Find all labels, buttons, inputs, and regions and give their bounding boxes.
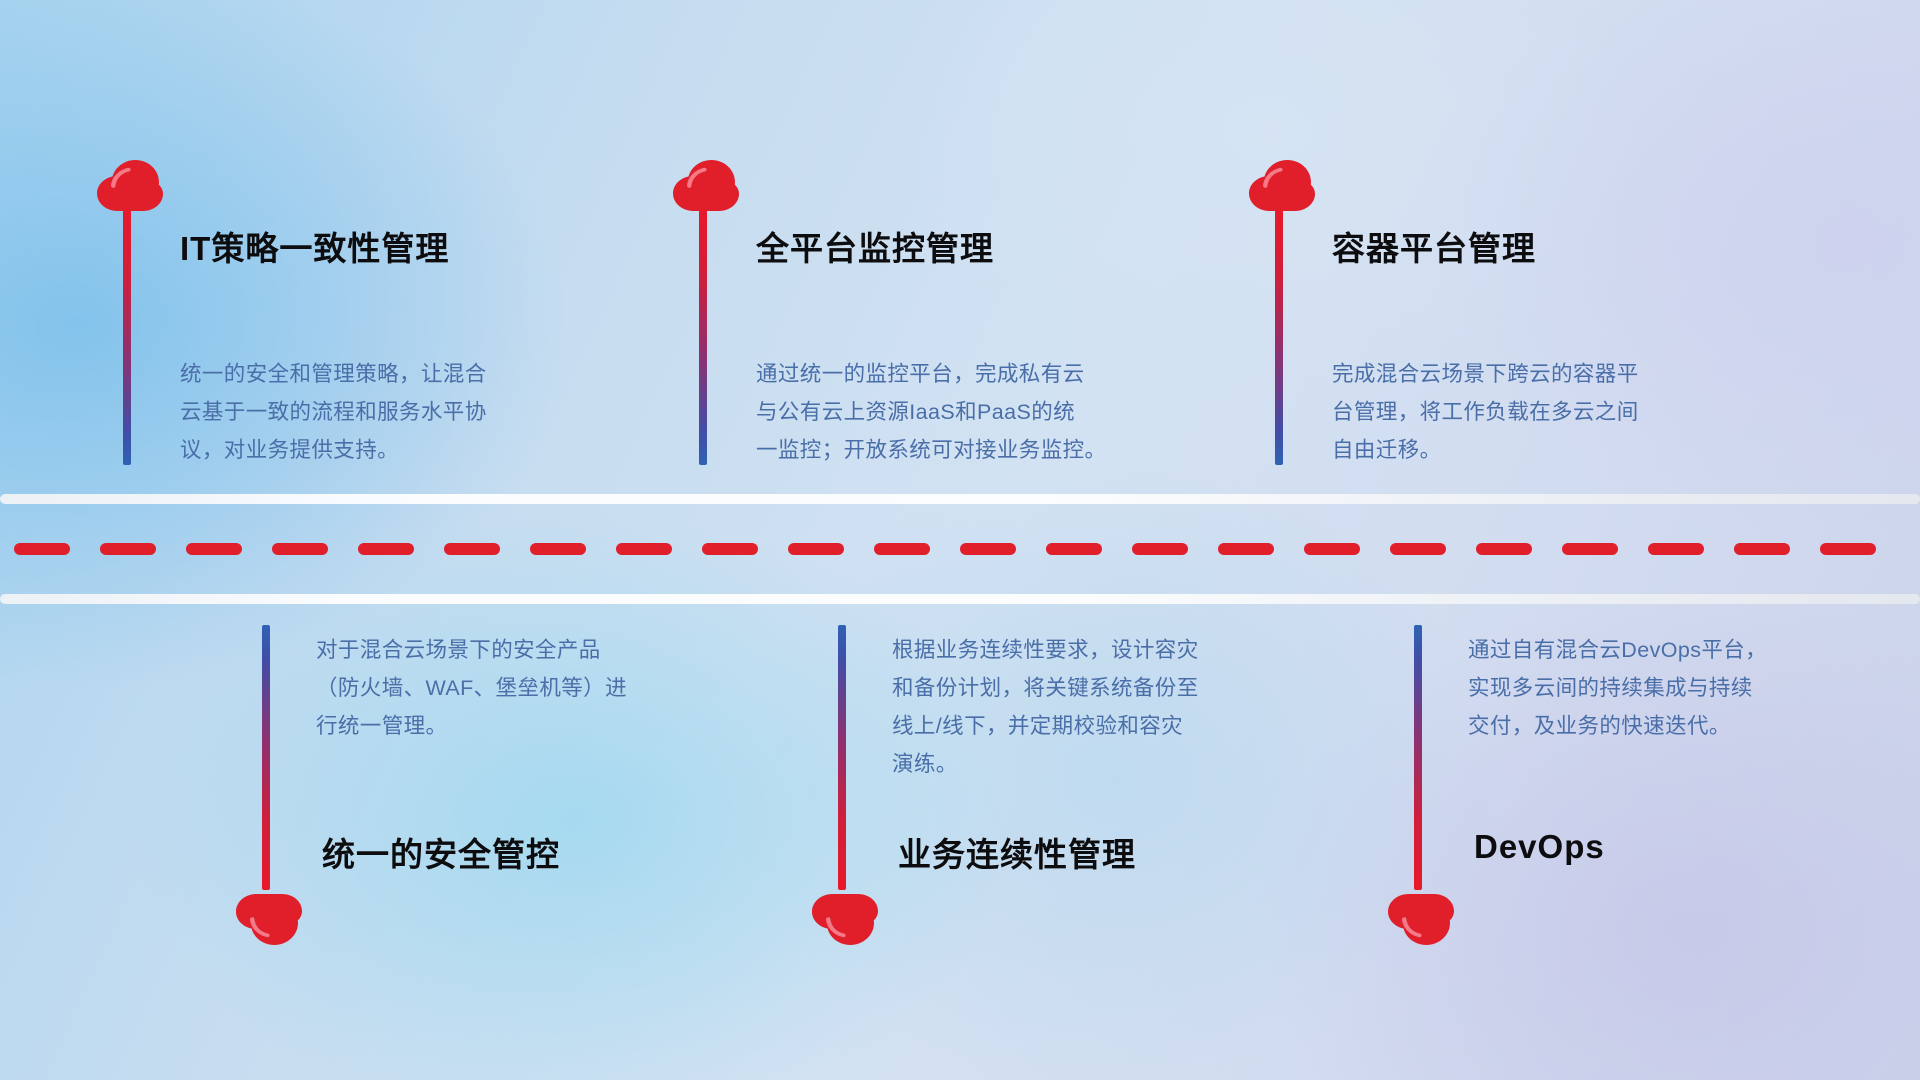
dash-segment [358, 543, 414, 555]
body-line: 一监控；开放系统可对接业务监控。 [756, 431, 1206, 469]
body-line: 和备份计划，将关键系统备份至 [892, 669, 1342, 707]
heading-2: 全平台监控管理 [756, 222, 994, 270]
body-line: 议，对业务提供支持。 [180, 431, 630, 469]
body-line: 与公有云上资源IaaS和PaaS的统 [756, 393, 1206, 431]
road-dashed-line [0, 543, 1920, 555]
heading-3: 容器平台管理 [1332, 222, 1536, 270]
dash-segment [1820, 543, 1876, 555]
dash-segment [1390, 543, 1446, 555]
dash-segment [616, 543, 672, 555]
marker-bottom-2 [812, 893, 878, 945]
dash-segment [1648, 543, 1704, 555]
dash-segment [1304, 543, 1360, 555]
body-line: 根据业务连续性要求，设计容灾 [892, 631, 1342, 669]
marker-top-3 [1249, 160, 1315, 212]
body-line: 行统一管理。 [316, 707, 766, 745]
dash-segment [874, 543, 930, 555]
stem-2 [699, 210, 707, 465]
cloud-icon [812, 893, 878, 945]
body-line: 自由迁移。 [1332, 431, 1782, 469]
body-line: 云基于一致的流程和服务水平协 [180, 393, 630, 431]
dash-segment [1562, 543, 1618, 555]
cloud-icon [673, 160, 739, 212]
dash-segment [186, 543, 242, 555]
cloud-icon [236, 893, 302, 945]
cloud-icon [1388, 893, 1454, 945]
road-edge-top [0, 494, 1920, 504]
body-text-5: 根据业务连续性要求，设计容灾 和备份计划，将关键系统备份至 线上/线下，并定期校… [892, 631, 1342, 783]
body-line: 统一的安全和管理策略，让混合 [180, 355, 630, 393]
body-line: 完成混合云场景下跨云的容器平 [1332, 355, 1782, 393]
body-line: 演练。 [892, 745, 1342, 783]
heading-5: 业务连续性管理 [898, 828, 1136, 876]
infographic-canvas: IT策略一致性管理 统一的安全和管理策略，让混合 云基于一致的流程和服务水平协 … [0, 0, 1920, 1080]
marker-top-1 [97, 160, 163, 212]
dash-segment [100, 543, 156, 555]
cloud-icon [1249, 160, 1315, 212]
dash-segment [1218, 543, 1274, 555]
body-line: 实现多云间的持续集成与持续 [1468, 669, 1918, 707]
body-line: 通过自有混合云DevOps平台， [1468, 631, 1918, 669]
road-edge-bottom [0, 594, 1920, 604]
body-text-2: 通过统一的监控平台，完成私有云 与公有云上资源IaaS和PaaS的统 一监控；开… [756, 355, 1206, 469]
marker-top-2 [673, 160, 739, 212]
heading-6: DevOps [1474, 828, 1605, 866]
body-line: 线上/线下，并定期校验和容灾 [892, 707, 1342, 745]
body-line: 台管理，将工作负载在多云之间 [1332, 393, 1782, 431]
marker-bottom-1 [236, 893, 302, 945]
dash-segment [1132, 543, 1188, 555]
body-line: 交付，及业务的快速迭代。 [1468, 707, 1918, 745]
cloud-icon [97, 160, 163, 212]
dash-segment [1046, 543, 1102, 555]
dash-segment [1734, 543, 1790, 555]
stem-6 [1414, 625, 1422, 890]
body-line: （防火墙、WAF、堡垒机等）进 [316, 669, 766, 707]
dash-segment [444, 543, 500, 555]
body-line: 通过统一的监控平台，完成私有云 [756, 355, 1206, 393]
stem-1 [123, 210, 131, 465]
stem-5 [838, 625, 846, 890]
heading-4: 统一的安全管控 [322, 828, 560, 876]
stem-4 [262, 625, 270, 890]
body-text-6: 通过自有混合云DevOps平台， 实现多云间的持续集成与持续 交付，及业务的快速… [1468, 631, 1918, 745]
marker-bottom-3 [1388, 893, 1454, 945]
dash-segment [960, 543, 1016, 555]
dash-segment [788, 543, 844, 555]
stem-3 [1275, 210, 1283, 465]
dash-segment [530, 543, 586, 555]
body-text-4: 对于混合云场景下的安全产品 （防火墙、WAF、堡垒机等）进 行统一管理。 [316, 631, 766, 745]
dash-segment [272, 543, 328, 555]
body-line: 对于混合云场景下的安全产品 [316, 631, 766, 669]
heading-1: IT策略一致性管理 [180, 222, 449, 270]
body-text-3: 完成混合云场景下跨云的容器平 台管理，将工作负载在多云之间 自由迁移。 [1332, 355, 1782, 469]
dash-segment [1476, 543, 1532, 555]
body-text-1: 统一的安全和管理策略，让混合 云基于一致的流程和服务水平协 议，对业务提供支持。 [180, 355, 630, 469]
dash-segment [14, 543, 70, 555]
dash-segment [702, 543, 758, 555]
